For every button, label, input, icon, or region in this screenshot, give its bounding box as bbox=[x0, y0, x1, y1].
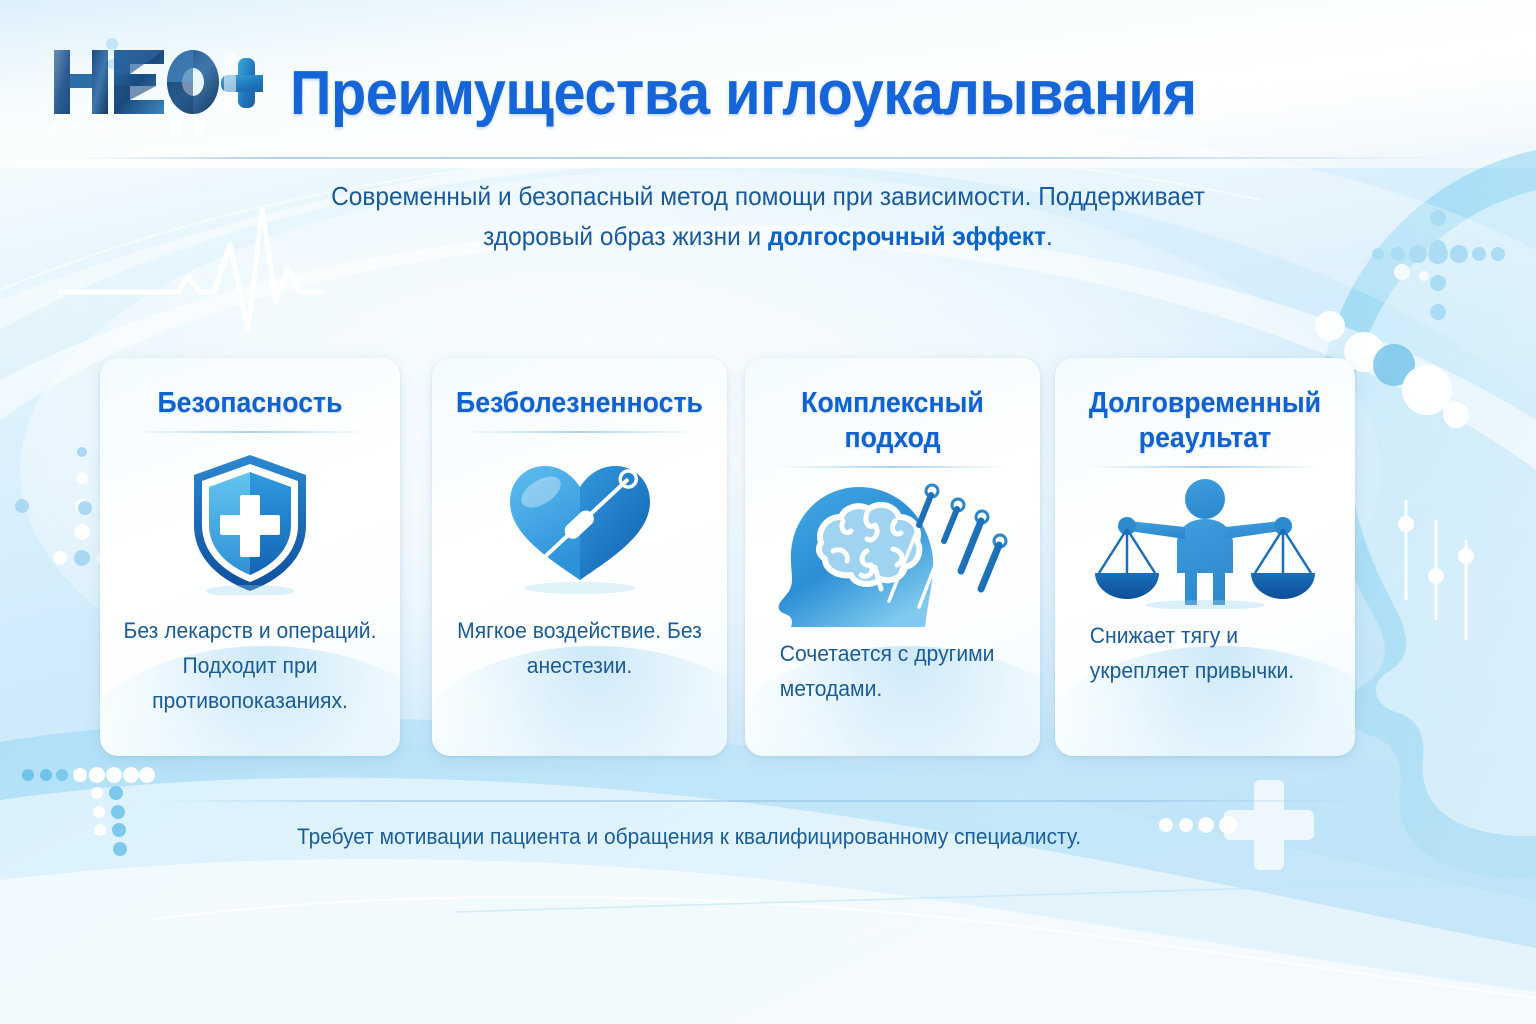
benefit-card-complex-approach[interactable]: Комплексный подход bbox=[745, 358, 1040, 756]
benefit-card-safety[interactable]: Безопасность bbox=[100, 358, 400, 756]
benefit-card-painless[interactable]: Безболезненность bbox=[432, 358, 727, 756]
shield-cross-icon bbox=[100, 433, 400, 613]
card-title: Безболезненность bbox=[444, 386, 715, 421]
head-brain-needles-icon bbox=[745, 468, 1040, 636]
heart-needle-icon bbox=[432, 433, 727, 613]
card-description: Снижает тягу и укрепляет привычки. bbox=[1061, 618, 1349, 688]
benefit-cards: Безопасность bbox=[0, 0, 1536, 1024]
card-description: Сочетается с другими методами. bbox=[751, 636, 1034, 706]
footer-note: Требует мотивации пациента и обращения к… bbox=[34, 824, 1343, 850]
card-title: Безопасность bbox=[112, 386, 388, 421]
card-description: Мягкое воздействие. Без анестезии. bbox=[438, 613, 721, 683]
card-description: Без лекарств и операций. Подходит при пр… bbox=[106, 613, 394, 718]
person-scales-icon bbox=[1055, 468, 1355, 618]
benefit-card-long-term-result[interactable]: Долговременный реаультат bbox=[1055, 358, 1355, 756]
card-title: Долговременный реаультат bbox=[1067, 386, 1343, 456]
card-title: Комплексный подход bbox=[757, 386, 1028, 456]
